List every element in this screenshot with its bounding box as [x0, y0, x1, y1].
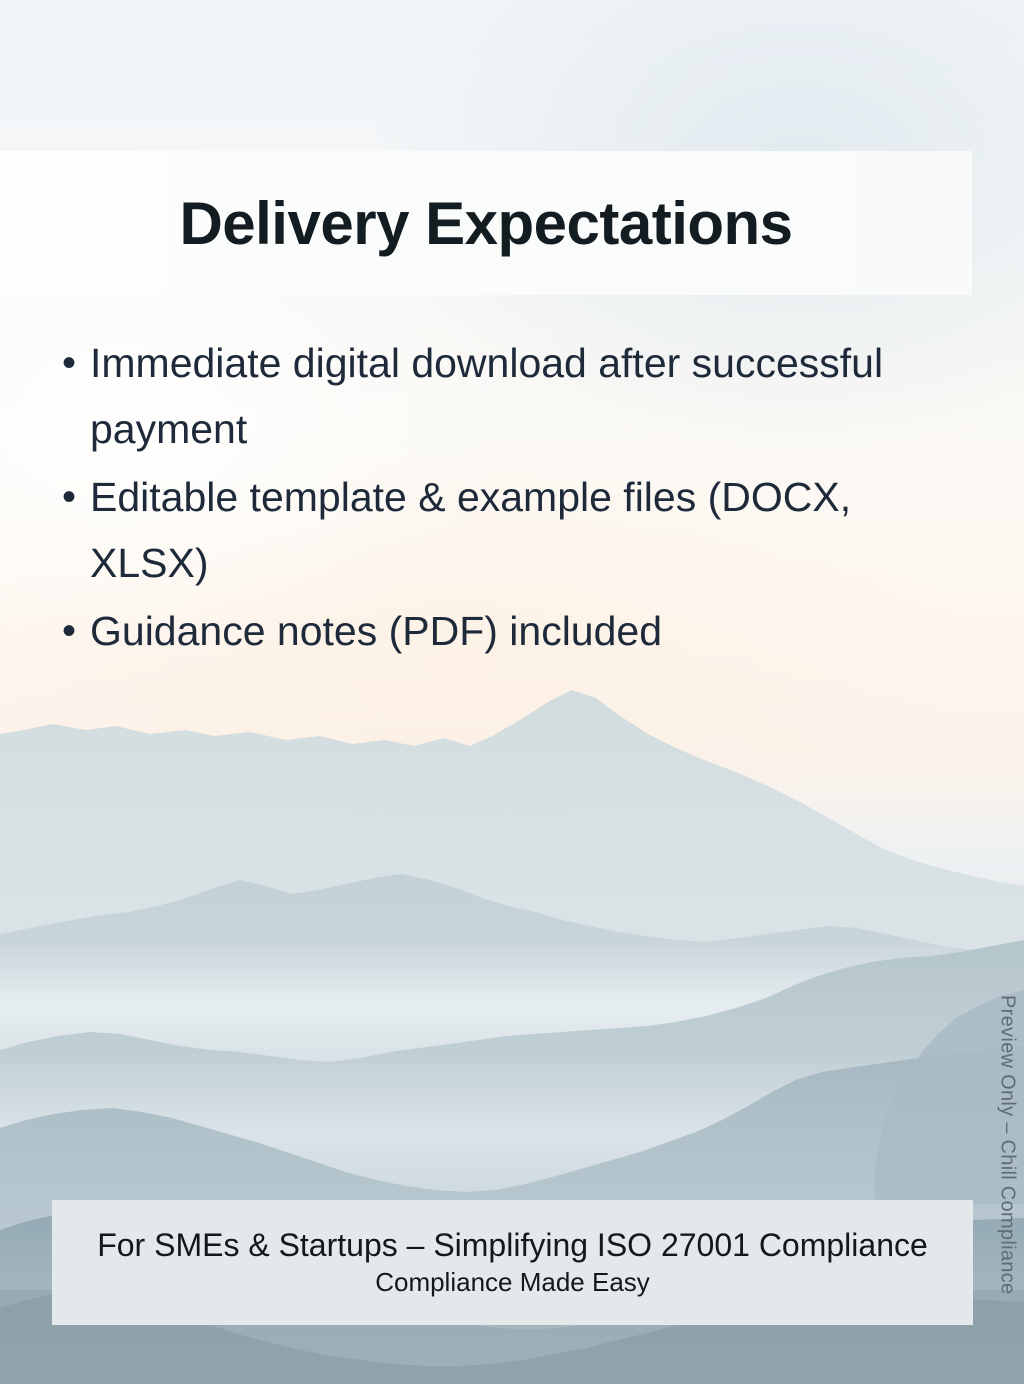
bullet-text: Guidance notes (PDF) included: [90, 598, 978, 664]
footer-subtagline: Compliance Made Easy: [375, 1267, 650, 1298]
bullet-text: Editable template & example files (DOCX,…: [90, 464, 978, 596]
bullet-point-icon: •: [48, 330, 90, 396]
footer-tagline: For SMEs & Startups – Simplifying ISO 27…: [97, 1227, 928, 1265]
page-title: Delivery Expectations: [0, 151, 972, 295]
watermark-text: Preview Only – Chill Compliance: [996, 995, 1019, 1294]
footer-caption-panel: For SMEs & Startups – Simplifying ISO 27…: [52, 1200, 973, 1325]
bullet-point-icon: •: [48, 464, 90, 530]
preview-watermark: Preview Only – Chill Compliance: [992, 995, 1022, 1335]
list-item: • Guidance notes (PDF) included: [48, 598, 978, 664]
slide-canvas: Delivery Expectations • Immediate digita…: [0, 0, 1024, 1384]
bullet-point-icon: •: [48, 598, 90, 664]
bullet-text: Immediate digital download after success…: [90, 330, 978, 462]
list-item: • Editable template & example files (DOC…: [48, 464, 978, 596]
list-item: • Immediate digital download after succe…: [48, 330, 978, 462]
bullet-list: • Immediate digital download after succe…: [48, 330, 978, 666]
